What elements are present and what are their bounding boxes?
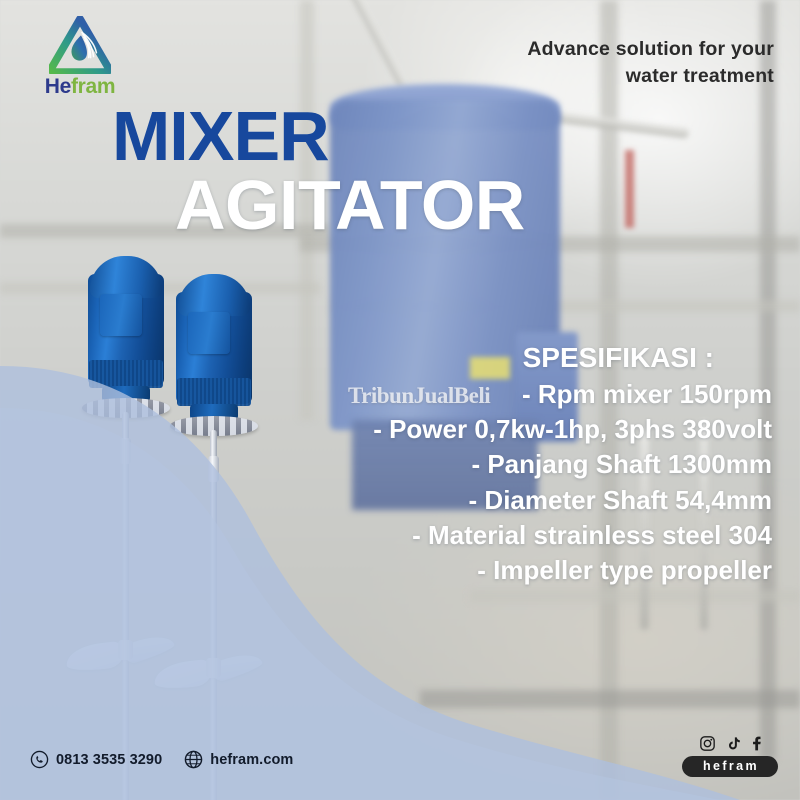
spec-item: - Impeller type propeller — [302, 553, 772, 588]
brand-name-part1: He — [45, 75, 71, 98]
specifications-block: SPESIFIKASI : - Rpm mixer 150rpm - Power… — [302, 340, 772, 588]
hefram-triangle-leaf-logo — [49, 16, 111, 74]
brand-name-part2: fram — [71, 75, 115, 98]
footer-contact-bar: 0813 3535 3290 hefram.com — [30, 750, 293, 769]
tagline: Advance solution for your water treatmen… — [444, 36, 774, 89]
tiktok-icon[interactable] — [726, 735, 741, 752]
shaft-collar — [208, 456, 219, 482]
background-beam-horizontal-5 — [420, 690, 800, 708]
motor-terminal-box — [100, 294, 142, 336]
motor-terminal-box — [188, 312, 230, 354]
specifications-list: - Rpm mixer 150rpm - Power 0,7kw-1hp, 3p… — [302, 377, 772, 588]
mixer-shaft — [122, 412, 129, 800]
globe-icon — [184, 750, 203, 769]
facebook-icon[interactable] — [751, 735, 762, 752]
website-url: hefram.com — [210, 752, 293, 768]
website-contact[interactable]: hefram.com — [184, 750, 293, 769]
brand-logo: Hefram — [26, 16, 134, 97]
whatsapp-contact[interactable]: 0813 3535 3290 — [30, 750, 162, 769]
specifications-title: SPESIFIKASI : — [302, 340, 772, 377]
instagram-icon[interactable] — [699, 735, 716, 752]
headline-mixer: MIXER — [0, 104, 560, 170]
social-handle-pill[interactable]: hefram — [682, 756, 778, 777]
tagline-line-2: water treatment — [444, 63, 774, 90]
shaft-collar — [120, 438, 131, 464]
background-red-tag — [625, 150, 634, 228]
phone-number: 0813 3535 3290 — [56, 752, 162, 768]
spec-item: - Material strainless steel 304 — [302, 518, 772, 553]
spec-item: - Rpm mixer 150rpm — [302, 377, 772, 412]
social-icon-row — [682, 735, 778, 752]
poster-canvas: Hefram Advance solution for your water t… — [0, 0, 800, 800]
mixer-shaft — [210, 430, 217, 800]
whatsapp-icon — [30, 750, 49, 769]
motor-cooling-fins — [177, 378, 251, 406]
spec-item: - Power 0,7kw-1hp, 3phs 380volt — [302, 412, 772, 447]
spec-item: - Diameter Shaft 54,4mm — [302, 483, 772, 518]
spec-item: - Panjang Shaft 1300mm — [302, 447, 772, 482]
motor-cooling-fins — [89, 360, 163, 388]
page-title: MIXER AGITATOR — [0, 104, 560, 239]
headline-agitator: AGITATOR — [0, 172, 560, 239]
brand-wordmark: Hefram — [26, 76, 134, 97]
tagline-line-1: Advance solution for your — [444, 36, 774, 63]
propeller-hub — [118, 640, 133, 660]
background-beam-horizontal-6 — [470, 590, 800, 602]
social-block: hefram — [682, 735, 778, 777]
propeller-hub — [206, 658, 221, 678]
